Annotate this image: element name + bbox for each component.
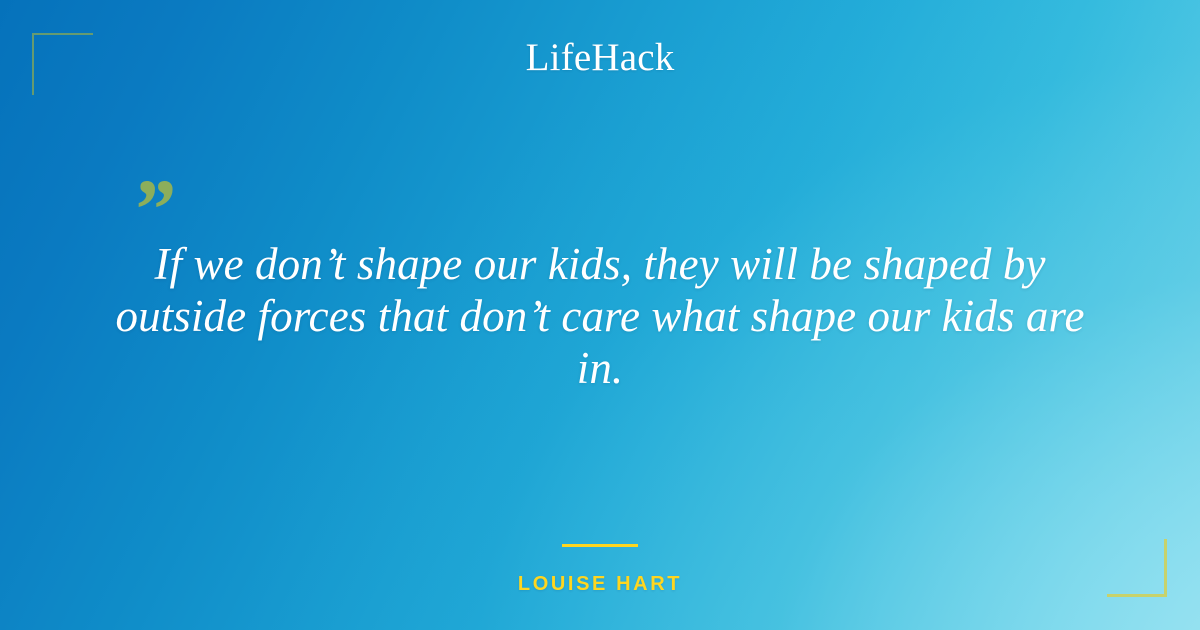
lifehack-logo: LifeHack (0, 38, 1200, 79)
divider-rule (562, 544, 638, 547)
quote-author: LOUISE HART (0, 573, 1200, 596)
quote-text: If we don’t shape our kids, they will be… (100, 238, 1100, 394)
quote-card: LifeHack ” If we don’t shape our kids, t… (0, 0, 1200, 630)
corner-bracket-bottom-right-icon (1107, 539, 1167, 597)
